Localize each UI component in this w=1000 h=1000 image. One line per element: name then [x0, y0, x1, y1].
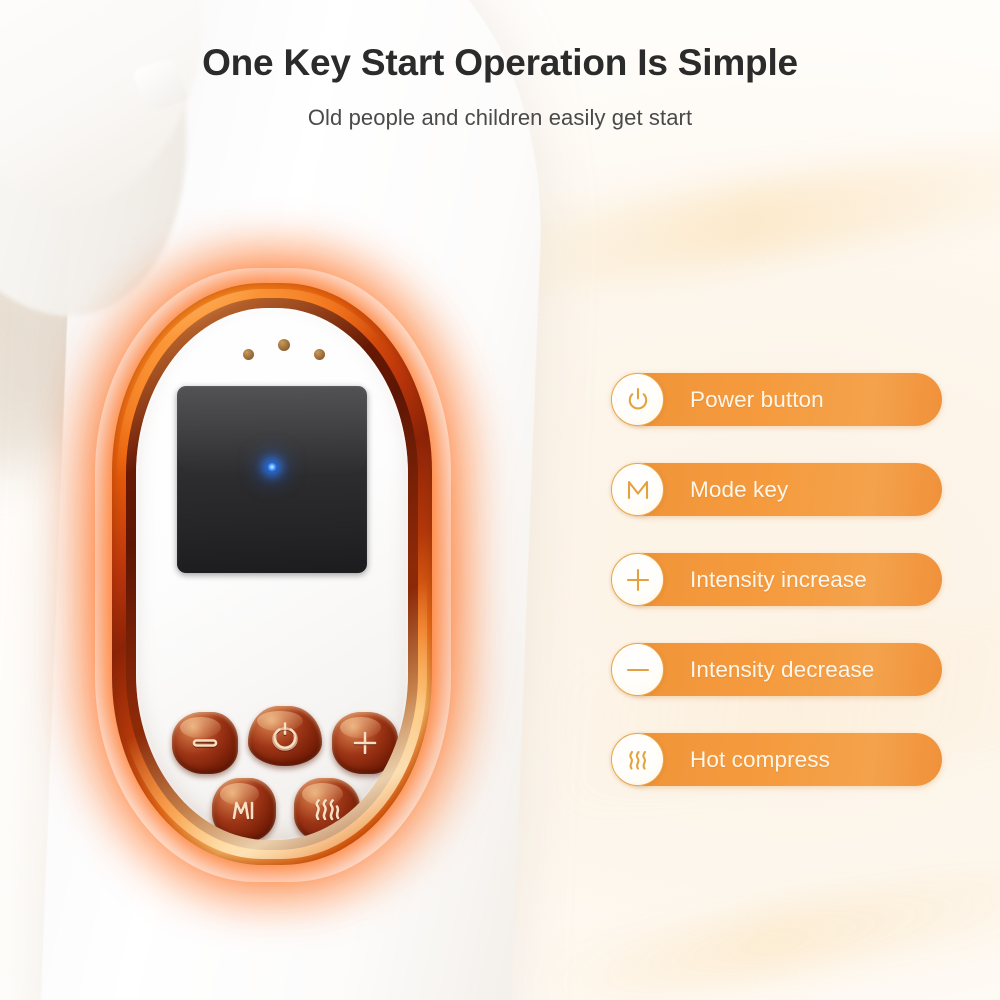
panel-face — [136, 308, 408, 840]
feature-item-intensity-decrease[interactable]: Intensity decrease — [620, 643, 942, 696]
mode-m-icon — [229, 795, 259, 825]
sensor-dot — [278, 339, 290, 351]
sensor-dot — [314, 349, 325, 360]
light-streak — [468, 132, 1000, 302]
power-icon — [270, 720, 300, 752]
heat-waves-icon — [611, 733, 664, 786]
mode-m-icon — [611, 463, 664, 516]
feature-label: Intensity decrease — [690, 657, 874, 683]
sensor-dot — [243, 349, 254, 360]
feature-label: Power button — [690, 387, 824, 413]
intensity-increase-button[interactable] — [332, 712, 398, 774]
feature-label: Hot compress — [690, 747, 830, 773]
feature-label: Intensity increase — [690, 567, 867, 593]
minus-icon — [611, 643, 664, 696]
feature-item-mode-key[interactable]: Mode key — [620, 463, 942, 516]
feature-item-intensity-increase[interactable]: Intensity increase — [620, 553, 942, 606]
hot-compress-button[interactable] — [294, 778, 360, 840]
feature-label: Mode key — [690, 477, 788, 503]
control-panel — [112, 283, 432, 865]
intensity-decrease-button[interactable] — [172, 712, 238, 774]
feature-list: Power button Mode key Intensity increase — [620, 373, 942, 823]
mode-button[interactable] — [212, 778, 276, 840]
feature-item-hot-compress[interactable]: Hot compress — [620, 733, 942, 786]
product-feature-image: One Key Start Operation Is Simple Old pe… — [0, 0, 1000, 1000]
plus-icon — [350, 728, 380, 758]
heat-waves-icon — [311, 795, 343, 825]
minus-icon — [190, 735, 220, 751]
display-screen[interactable] — [177, 386, 367, 573]
page-title: One Key Start Operation Is Simple — [0, 42, 1000, 84]
power-button[interactable] — [248, 706, 322, 766]
power-icon — [611, 373, 664, 426]
feature-item-power-button[interactable]: Power button — [620, 373, 942, 426]
plus-icon — [611, 553, 664, 606]
light-streak — [519, 852, 1000, 1000]
status-led — [267, 462, 277, 472]
page-subtitle: Old people and children easily get start — [0, 105, 1000, 131]
